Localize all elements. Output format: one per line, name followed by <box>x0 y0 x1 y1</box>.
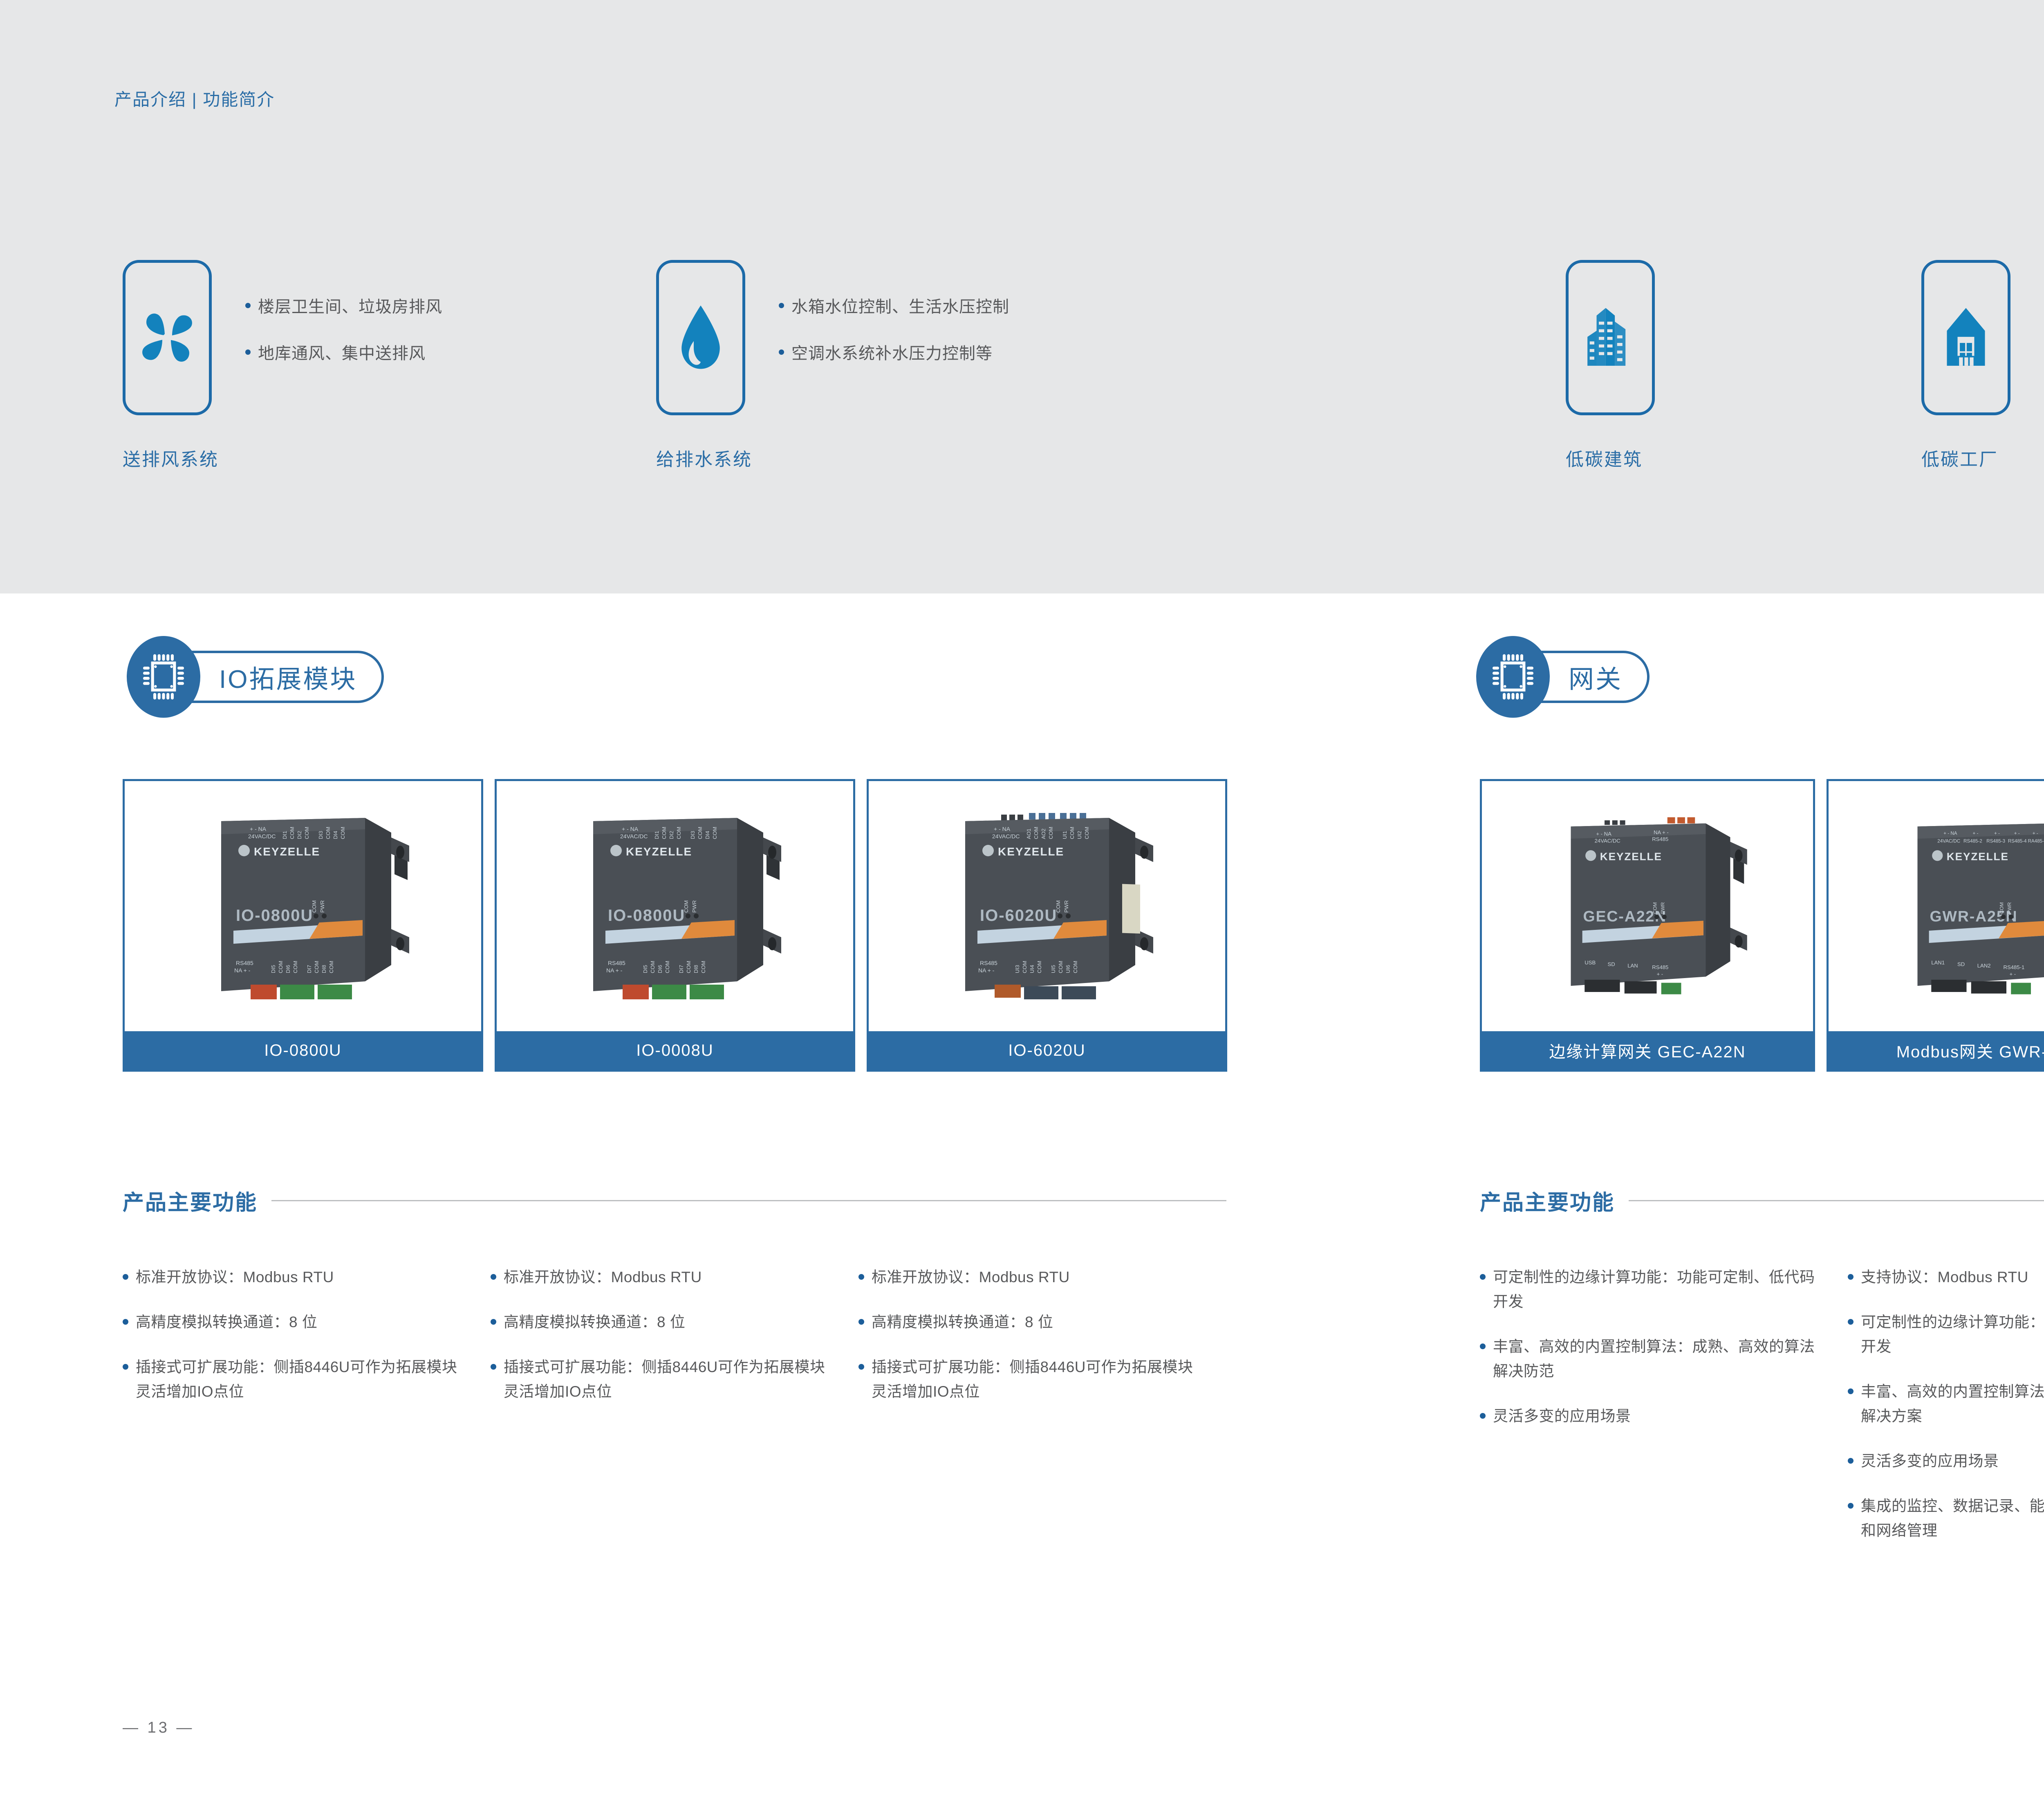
feature-text: 支持协议：Modbus RTU <box>1861 1265 2028 1290</box>
list-item: 高精度模拟转换通道：8 位 <box>123 1310 462 1335</box>
feature-columns: 可定制性的边缘计算功能：功能可定制、低代码开发 丰富、高效的内置控制算法：成熟、… <box>1480 1265 2044 1563</box>
svg-text:SD: SD <box>1957 961 1965 967</box>
svg-text:DI4: DI4 <box>332 831 338 839</box>
svg-text:COM: COM <box>697 827 703 839</box>
svg-text:RS485: RS485 <box>608 960 625 966</box>
svg-text:DI3: DI3 <box>318 831 324 839</box>
svg-text:LAN: LAN <box>1627 963 1638 969</box>
svg-text:COM: COM <box>1055 900 1061 913</box>
svg-text:IO-0800U: IO-0800U <box>236 907 313 925</box>
svg-text:+ -: + - <box>1657 971 1663 977</box>
svg-text:DI8: DI8 <box>321 965 327 973</box>
bullet-dot-icon <box>1480 1274 1486 1280</box>
feature-text: 丰富、高效的内置控制算法：成熟、高效的算法解决防范 <box>1493 1335 1819 1384</box>
chip-icon <box>1491 653 1535 701</box>
feature-text: 集成的监控、数据记录、能耗计量、报警、调度和网络管理 <box>1861 1494 2044 1543</box>
svg-text:COM: COM <box>686 961 692 973</box>
bullet-dot-icon <box>123 1364 128 1370</box>
list-item: 标准开放协议：Modbus RTU <box>491 1265 830 1290</box>
svg-text:COM: COM <box>1652 902 1658 914</box>
office-building-icon <box>1580 305 1641 370</box>
svg-text:DI1: DI1 <box>654 831 660 839</box>
product-card[interactable]: KEYZELLE GEC-A22N + - NA 24VAC/DC NA + -… <box>1480 779 1815 1072</box>
features-title-row: 产品主要功能 <box>1480 1185 2044 1216</box>
bullet-text: 水箱水位控制、生活水压控制 <box>791 293 1009 317</box>
svg-text:COM: COM <box>289 827 295 839</box>
gateway-product-card-row: KEYZELLE GEC-A22N + - NA 24VAC/DC NA + -… <box>1480 779 2044 1072</box>
svg-text:RA485-5: RA485-5 <box>2028 838 2044 844</box>
svg-text:COM: COM <box>1999 902 2005 914</box>
bullet-dot-icon <box>491 1319 496 1325</box>
svg-text:+ -: + - <box>2014 831 2020 836</box>
list-item: 集成的监控、数据记录、能耗计量、报警、调度和网络管理 <box>1848 1494 2044 1543</box>
bullet-dot-icon <box>779 349 784 355</box>
features-title-row: 产品主要功能 <box>123 1185 1226 1216</box>
svg-text:DI8: DI8 <box>693 965 699 973</box>
svg-text:RS485-4: RS485-4 <box>2008 838 2027 844</box>
svg-text:COM: COM <box>650 961 656 973</box>
list-item: 灵活多变的应用场景 <box>1848 1449 2044 1473</box>
svg-text:IO-0800U: IO-0800U <box>608 907 685 925</box>
svg-text:COM: COM <box>683 900 689 913</box>
section-title: IO拓展模块 <box>219 658 357 695</box>
svg-text:UI6: UI6 <box>1065 965 1071 973</box>
tile-caption: 低碳工厂 <box>1921 445 2010 471</box>
tile-frame <box>656 260 745 415</box>
bullet-dot-icon <box>1848 1319 1853 1325</box>
feature-text: 灵活多变的应用场景 <box>1493 1404 1631 1429</box>
svg-text:AO1: AO1 <box>1026 828 1032 839</box>
product-photo: KEYZELLE GWR-A25N + - NA + - + - + - + -… <box>1829 781 2044 1031</box>
page-number-left: — 13 — <box>123 1719 194 1737</box>
svg-text:AO2: AO2 <box>1040 828 1047 839</box>
bullet-dot-icon <box>491 1274 496 1280</box>
svg-text:KEYZELLE: KEYZELLE <box>254 845 320 858</box>
svg-text:DI2: DI2 <box>296 831 303 839</box>
svg-text:COM: COM <box>1084 827 1090 839</box>
bullet-dot-icon <box>1848 1503 1853 1509</box>
feature-column: 标准开放协议：Modbus RTU 高精度模拟转换通道：8 位 插接式可扩展功能… <box>858 1265 1226 1424</box>
feature-text: 插接式可扩展功能：侧插8446U可作为拓展模块灵活增加IO点位 <box>136 1355 462 1404</box>
list-item: 高精度模拟转换通道：8 位 <box>858 1310 1198 1335</box>
tile-caption: 送排风系统 <box>123 445 219 471</box>
bullet-dot-icon <box>245 349 251 355</box>
svg-text:SD: SD <box>1608 961 1615 967</box>
chip-icon-badge <box>127 636 200 718</box>
svg-text:COM: COM <box>278 961 284 973</box>
svg-text:COM: COM <box>676 827 682 839</box>
product-label: IO-6020U <box>869 1031 1225 1070</box>
svg-text:COM: COM <box>311 900 317 913</box>
svg-text:DI6: DI6 <box>657 965 663 973</box>
svg-text:COM: COM <box>1072 961 1078 973</box>
application-tile-low-carbon-building: 低碳建筑 <box>1566 260 1655 471</box>
svg-text:COM: COM <box>314 961 320 973</box>
svg-text:+ - NA: + - NA <box>250 826 267 832</box>
svg-text:DI1: DI1 <box>282 831 288 839</box>
tile-frame <box>1921 260 2010 415</box>
application-tile-water-supply: 给排水系统 水箱水位控制、生活水压控制 空调水系统补水压力控制等 <box>656 260 752 471</box>
section-gateways: 网关 <box>1317 636 2044 722</box>
svg-text:PWR: PWR <box>2006 902 2012 914</box>
feature-column: 支持协议：Modbus RTU 可定制性的边缘计算功能：功能可定制、低代码开发 … <box>1848 1265 2044 1563</box>
svg-text:COM: COM <box>292 961 298 973</box>
list-item: 可定制性的边缘计算功能：功能可定制、低代码开发 <box>1480 1265 1819 1314</box>
svg-text:DI3: DI3 <box>690 831 696 839</box>
svg-text:COM: COM <box>1069 827 1075 839</box>
bullet-dot-icon <box>1480 1343 1486 1349</box>
svg-text:+ -: + - <box>1994 831 2000 836</box>
features-title: 产品主要功能 <box>123 1185 258 1216</box>
product-card[interactable]: KEYZELLE GWR-A25N + - NA + - + - + - + -… <box>1827 779 2044 1072</box>
product-card[interactable]: KEYZELLE IO-0800U + - NA 24VAC/DC DI1 CO… <box>123 779 483 1072</box>
bullet-dot-icon <box>858 1319 864 1325</box>
bullet-text: 楼层卫生间、垃圾房排风 <box>258 293 442 317</box>
feature-text: 高精度模拟转换通道：8 位 <box>504 1310 685 1335</box>
svg-text:COM: COM <box>712 827 718 839</box>
svg-text:COM: COM <box>1058 961 1064 973</box>
feature-text: 标准开放协议：Modbus RTU <box>504 1265 702 1290</box>
list-item: 可定制性的边缘计算功能：功能可定制、低代码开发 <box>1848 1310 2044 1359</box>
bullet-dot-icon <box>1848 1388 1853 1394</box>
bullet-dot-icon <box>858 1364 864 1370</box>
product-label: 边缘计算网关 GEC-A22N <box>1482 1031 1813 1070</box>
feature-text: 高精度模拟转换通道：8 位 <box>136 1310 317 1335</box>
device-image-io-6020u: KEYZELLE IO-6020U + - NA 24VAC/DC AO1 CO… <box>916 792 1178 1021</box>
bullet-dot-icon <box>779 303 784 308</box>
list-item: 楼层卫生间、垃圾房排风 <box>245 293 442 317</box>
title-rule <box>271 1200 1226 1201</box>
title-rule <box>1629 1200 2044 1201</box>
factory-icon <box>1938 305 1994 370</box>
svg-text:IO-6020U: IO-6020U <box>980 907 1057 925</box>
svg-text:UI3: UI3 <box>1014 965 1020 973</box>
feature-columns: 标准开放协议：Modbus RTU 高精度模拟转换通道：8 位 插接式可扩展功能… <box>123 1265 1226 1424</box>
svg-text:+ -: + - <box>2033 831 2038 836</box>
feature-text: 可定制性的边缘计算功能：功能可定制、低代码开发 <box>1861 1310 2044 1359</box>
device-image-gwr-a25n: KEYZELLE GWR-A25N + - NA + - + - + - + -… <box>1871 794 2044 1019</box>
svg-text:USB: USB <box>1585 960 1596 966</box>
svg-text:KEYZELLE: KEYZELLE <box>998 845 1064 858</box>
svg-text:RS485: RS485 <box>1652 836 1668 842</box>
section-io-expansion-modules: IO拓展模块 <box>0 636 1317 722</box>
svg-text:COM: COM <box>328 961 334 973</box>
tile-bullet-list: 水箱水位控制、生活水压控制 空调水系统补水压力控制等 <box>779 293 1009 364</box>
features-title: 产品主要功能 <box>1480 1185 1615 1216</box>
device-image-io-0800u: KEYZELLE IO-0800U + - NA 24VAC/DC DI1 CO… <box>172 792 434 1021</box>
tile-caption: 给排水系统 <box>656 445 752 471</box>
svg-text:LAN1: LAN1 <box>1931 960 1945 966</box>
svg-text:DI5: DI5 <box>270 965 276 973</box>
svg-text:KEYZELLE: KEYZELLE <box>1600 851 1662 863</box>
svg-text:COM: COM <box>1048 827 1054 839</box>
svg-text:RS485: RS485 <box>236 960 253 966</box>
chip-icon <box>141 653 186 701</box>
feature-column: 可定制性的边缘计算功能：功能可定制、低代码开发 丰富、高效的内置控制算法：成熟、… <box>1480 1265 1848 1563</box>
svg-text:24VAC/DC: 24VAC/DC <box>248 833 276 840</box>
svg-text:DI7: DI7 <box>306 965 312 973</box>
bullet-dot-icon <box>858 1274 864 1280</box>
svg-text:COM: COM <box>1033 827 1039 839</box>
list-item: 标准开放协议：Modbus RTU <box>123 1265 462 1290</box>
section-header: 网关 <box>1317 636 2044 722</box>
list-item: 灵活多变的应用场景 <box>1480 1404 1819 1429</box>
svg-text:24VAC/DC: 24VAC/DC <box>1937 838 1960 844</box>
product-photo: KEYZELLE IO-0800U + - NA 24VAC/DC DI1 CO… <box>497 781 853 1031</box>
svg-text:24VAC/DC: 24VAC/DC <box>992 833 1020 840</box>
section-title: 网关 <box>1569 658 1623 695</box>
feature-text: 丰富、高效的内置控制算法：成熟、高效的算法解决方案 <box>1861 1379 2044 1429</box>
feature-text: 插接式可扩展功能：侧插8446U可作为拓展模块灵活增加IO点位 <box>504 1355 830 1404</box>
svg-text:NA + -: NA + - <box>978 967 995 974</box>
svg-text:RS485-2: RS485-2 <box>1963 838 1982 844</box>
feature-text: 插接式可扩展功能：侧插8446U可作为拓展模块灵活增加IO点位 <box>872 1355 1198 1404</box>
product-photo: KEYZELLE IO-0800U + - NA 24VAC/DC DI1 CO… <box>125 781 481 1031</box>
io-features-block: 产品主要功能 标准开放协议：Modbus RTU 高精度模拟转换通道：8 位 插… <box>123 1185 1226 1424</box>
svg-text:NA + -: NA + - <box>1654 829 1669 835</box>
svg-text:RS485-1: RS485-1 <box>2004 964 2025 970</box>
bullet-dot-icon <box>1848 1274 1853 1280</box>
svg-text:COM: COM <box>700 961 706 973</box>
svg-text:COM: COM <box>304 827 310 839</box>
chip-icon-badge <box>1476 636 1550 718</box>
bullet-dot-icon <box>123 1319 128 1325</box>
fan-icon <box>137 307 198 368</box>
svg-text:24VAC/DC: 24VAC/DC <box>620 833 648 840</box>
tile-frame <box>1566 260 1655 415</box>
svg-text:DI4: DI4 <box>704 831 710 839</box>
svg-text:+ -: + - <box>2010 971 2016 977</box>
list-item: 插接式可扩展功能：侧插8446U可作为拓展模块灵活增加IO点位 <box>858 1355 1198 1404</box>
svg-text:UI4: UI4 <box>1029 965 1035 973</box>
bullet-dot-icon <box>1480 1413 1486 1419</box>
running-head-left: 产品介绍 | 功能简介 <box>114 86 275 111</box>
tile-bullet-list: 楼层卫生间、垃圾房排风 地库通风、集中送排风 <box>245 293 442 364</box>
list-item: 支持协议：Modbus RTU <box>1848 1265 2044 1290</box>
application-tile-low-carbon-factory: 低碳工厂 <box>1921 260 2010 471</box>
product-label: IO-0008U <box>497 1031 853 1070</box>
svg-text:+ - NA: + - NA <box>622 826 639 832</box>
svg-text:NA + -: NA + - <box>606 967 623 974</box>
product-label: IO-0800U <box>125 1031 481 1070</box>
svg-text:RS485: RS485 <box>1652 964 1668 970</box>
svg-text:LAN2: LAN2 <box>1977 963 1991 969</box>
product-photo: KEYZELLE IO-6020U + - NA 24VAC/DC AO1 CO… <box>869 781 1225 1031</box>
svg-text:+ - NA: + - NA <box>994 826 1011 832</box>
list-item: 标准开放协议：Modbus RTU <box>858 1265 1198 1290</box>
svg-text:RS485: RS485 <box>980 960 997 966</box>
svg-text:RS485-3: RS485-3 <box>1986 838 2005 844</box>
svg-text:+ - NA: + - NA <box>1943 831 1957 836</box>
list-item: 水箱水位控制、生活水压控制 <box>779 293 1009 317</box>
svg-text:UI5: UI5 <box>1050 965 1056 973</box>
product-card[interactable]: KEYZELLE IO-6020U + - NA 24VAC/DC AO1 CO… <box>867 779 1227 1072</box>
product-card[interactable]: KEYZELLE IO-0800U + - NA 24VAC/DC DI1 CO… <box>495 779 855 1072</box>
svg-text:+ -: + - <box>1973 831 1979 836</box>
section-header: IO拓展模块 <box>0 636 1317 722</box>
svg-text:DI6: DI6 <box>285 965 291 973</box>
svg-text:COM: COM <box>664 961 670 973</box>
svg-text:COM: COM <box>325 827 331 839</box>
svg-text:COM: COM <box>661 827 667 839</box>
product-label: Modbus网关 GWR-A25N <box>1829 1031 2044 1070</box>
water-drop-icon <box>674 303 728 372</box>
bullet-dot-icon <box>245 303 251 308</box>
svg-text:DI7: DI7 <box>678 965 684 973</box>
feature-text: 高精度模拟转换通道：8 位 <box>872 1310 1053 1335</box>
bullet-text: 空调水系统补水压力控制等 <box>791 340 993 364</box>
svg-text:COM: COM <box>1022 961 1028 973</box>
device-image-gec-a22n: KEYZELLE GEC-A22N + - NA 24VAC/DC NA + -… <box>1525 794 1770 1019</box>
list-item: 空调水系统补水压力控制等 <box>779 340 1009 364</box>
bullet-dot-icon <box>123 1274 128 1280</box>
tile-caption: 低碳建筑 <box>1566 445 1655 471</box>
svg-text:PWR: PWR <box>691 900 697 913</box>
feature-text: 可定制性的边缘计算功能：功能可定制、低代码开发 <box>1493 1265 1819 1314</box>
device-image-io-0008u: KEYZELLE IO-0800U + - NA 24VAC/DC DI1 CO… <box>544 792 806 1021</box>
feature-column: 标准开放协议：Modbus RTU 高精度模拟转换通道：8 位 插接式可扩展功能… <box>491 1265 858 1424</box>
svg-text:DI2: DI2 <box>668 831 675 839</box>
svg-text:NA + -: NA + - <box>234 967 251 974</box>
list-item: 插接式可扩展功能：侧插8446U可作为拓展模块灵活增加IO点位 <box>123 1355 462 1404</box>
bullet-dot-icon <box>491 1364 496 1370</box>
svg-text:UI1: UI1 <box>1062 831 1068 839</box>
io-product-card-row: KEYZELLE IO-0800U + - NA 24VAC/DC DI1 CO… <box>123 779 1227 1072</box>
gateway-features-block: 产品主要功能 可定制性的边缘计算功能：功能可定制、低代码开发 丰富、高效的内置控… <box>1480 1185 2044 1563</box>
list-item: 丰富、高效的内置控制算法：成熟、高效的算法解决防范 <box>1480 1335 1819 1384</box>
list-item: 地库通风、集中送排风 <box>245 340 442 364</box>
svg-text:UI2: UI2 <box>1076 831 1083 839</box>
svg-text:PWR: PWR <box>1063 900 1069 913</box>
list-item: 高精度模拟转换通道：8 位 <box>491 1310 830 1335</box>
feature-column: 标准开放协议：Modbus RTU 高精度模拟转换通道：8 位 插接式可扩展功能… <box>123 1265 491 1424</box>
svg-text:PWR: PWR <box>1660 902 1665 914</box>
feature-text: 标准开放协议：Modbus RTU <box>872 1265 1070 1290</box>
svg-text:PWR: PWR <box>319 900 325 913</box>
svg-text:DI5: DI5 <box>642 965 648 973</box>
svg-text:24VAC/DC: 24VAC/DC <box>1595 837 1620 844</box>
product-photo: KEYZELLE GEC-A22N + - NA 24VAC/DC NA + -… <box>1482 781 1813 1031</box>
feature-text: 灵活多变的应用场景 <box>1861 1449 1999 1473</box>
feature-text: 标准开放协议：Modbus RTU <box>136 1265 334 1290</box>
svg-text:COM: COM <box>1036 961 1042 973</box>
svg-text:KEYZELLE: KEYZELLE <box>1947 851 2009 863</box>
svg-text:KEYZELLE: KEYZELLE <box>626 845 692 858</box>
application-tile-ventilation: 送排风系统 楼层卫生间、垃圾房排风 地库通风、集中送排风 <box>123 260 219 471</box>
page-spine-divider <box>1316 0 1317 1798</box>
tile-frame <box>123 260 212 415</box>
list-item: 插接式可扩展功能：侧插8446U可作为拓展模块灵活增加IO点位 <box>491 1355 830 1404</box>
list-item: 丰富、高效的内置控制算法：成熟、高效的算法解决方案 <box>1848 1379 2044 1429</box>
svg-text:COM: COM <box>340 827 346 839</box>
svg-text:+ - NA: + - NA <box>1596 831 1611 837</box>
bullet-dot-icon <box>1848 1458 1853 1464</box>
bullet-text: 地库通风、集中送排风 <box>258 340 426 364</box>
